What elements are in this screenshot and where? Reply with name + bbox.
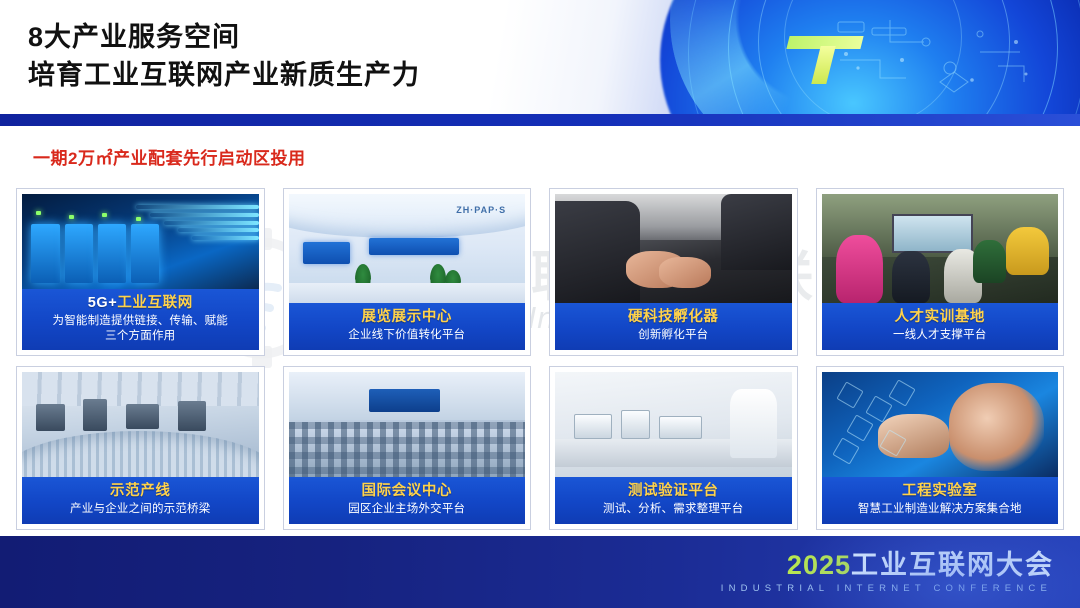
card-subtitle-line-1: 智慧工业制造业解决方案集合地 [826, 502, 1055, 517]
slide-root: 8大产业服务空间 培育工业互联网产业新质生产力 一期2万㎡产业配套先行启动区投用 [0, 0, 1080, 608]
card-subtitle-line-1: 企业线下价值转化平台 [293, 328, 522, 343]
conference-logo-main: 2025工业互联网大会 [721, 550, 1054, 580]
card-subtitle-line-1: 为智能制造提供链接、传输、赋能 [26, 314, 255, 328]
card-caption: 人才实训基地 一线人才支撑平台 [822, 303, 1059, 350]
page-title-line-2: 培育工业互联网产业新质生产力 [28, 56, 420, 94]
server-room-photo [22, 194, 259, 289]
card-title: 人才实训基地 [826, 308, 1055, 327]
card-title-main: 工业互联网 [117, 295, 193, 311]
card-subtitle-line-1: 创新孵化平台 [559, 328, 788, 343]
card-talent-training-base[interactable]: 人才实训基地 一线人才支撑平台 [816, 188, 1065, 356]
card-engineering-laboratory[interactable]: 工程实验室 智慧工业制造业解决方案集合地 [816, 366, 1065, 530]
header-divider-bar [0, 114, 1080, 126]
card-caption: 硬科技孵化器 创新孵化平台 [555, 303, 792, 350]
card-grid: 5G+工业互联网 为智能制造提供链接、传输、赋能 三个方面作用 ZH·PAP·S [16, 188, 1064, 530]
card-caption: 工程实验室 智慧工业制造业解决方案集合地 [822, 477, 1059, 524]
slide-header: 8大产业服务空间 培育工业互联网产业新质生产力 [0, 0, 1080, 114]
page-title: 8大产业服务空间 培育工业互联网产业新质生产力 [28, 18, 420, 94]
card-caption: 展览展示中心 企业线下价值转化平台 [289, 303, 526, 350]
card-subtitle-line-1: 园区企业主场外交平台 [293, 502, 522, 517]
conference-t-logo-icon [788, 36, 862, 84]
card-caption: 5G+工业互联网 为智能制造提供链接、传输、赋能 三个方面作用 [22, 289, 259, 350]
card-title-accent: 5G+ [88, 295, 118, 311]
conference-year: 2025 [787, 550, 851, 580]
production-line-photo [22, 372, 259, 477]
card-title: 国际会议中心 [293, 482, 522, 501]
card-title: 5G+工业互联网 [26, 294, 255, 313]
conference-hall-photo [289, 372, 526, 477]
engineering-lab-photo [822, 372, 1059, 477]
conference-name-cn: 工业互联网大会 [851, 550, 1054, 580]
card-title: 工程实验室 [826, 482, 1055, 501]
card-caption: 示范产线 产业与企业之间的示范桥梁 [22, 477, 259, 524]
testing-lab-photo [555, 372, 792, 477]
card-subtitle-line-1: 一线人才支撑平台 [826, 328, 1055, 343]
card-international-conference-center[interactable]: 国际会议中心 园区企业主场外交平台 [283, 366, 532, 530]
conference-name-en: INDUSTRIAL INTERNET CONFERENCE [721, 583, 1054, 594]
section-subtitle: 一期2万㎡产业配套先行启动区投用 [33, 144, 305, 169]
page-title-line-1: 8大产业服务空间 [28, 18, 420, 56]
card-subtitle-line-1: 测试、分析、需求整理平台 [559, 502, 788, 517]
exhibition-hall-photo: ZH·PAP·S [289, 194, 526, 303]
training-classroom-photo [822, 194, 1059, 303]
card-hardtech-incubator[interactable]: 硬科技孵化器 创新孵化平台 [549, 188, 798, 356]
conference-logo: 2025工业互联网大会 INDUSTRIAL INTERNET CONFEREN… [721, 550, 1054, 594]
card-title: 示范产线 [26, 482, 255, 501]
card-caption: 测试验证平台 测试、分析、需求整理平台 [555, 477, 792, 524]
card-caption: 国际会议中心 园区企业主场外交平台 [289, 477, 526, 524]
slide-footer: 2025工业互联网大会 INDUSTRIAL INTERNET CONFEREN… [0, 536, 1080, 608]
card-subtitle-line-1: 产业与企业之间的示范桥梁 [26, 502, 255, 517]
card-exhibition-center[interactable]: ZH·PAP·S 展览展示中心 企业线下价值转化平台 [283, 188, 532, 356]
card-demo-production-line[interactable]: 示范产线 产业与企业之间的示范桥梁 [16, 366, 265, 530]
card-title: 测试验证平台 [559, 482, 788, 501]
card-subtitle-line-2: 三个方面作用 [26, 329, 255, 343]
card-5g-industrial-internet[interactable]: 5G+工业互联网 为智能制造提供链接、传输、赋能 三个方面作用 [16, 188, 265, 356]
handshake-meeting-photo [555, 194, 792, 303]
card-title: 硬科技孵化器 [559, 308, 788, 327]
card-testing-verification-platform[interactable]: 测试验证平台 测试、分析、需求整理平台 [549, 366, 798, 530]
card-title: 展览展示中心 [293, 308, 522, 327]
